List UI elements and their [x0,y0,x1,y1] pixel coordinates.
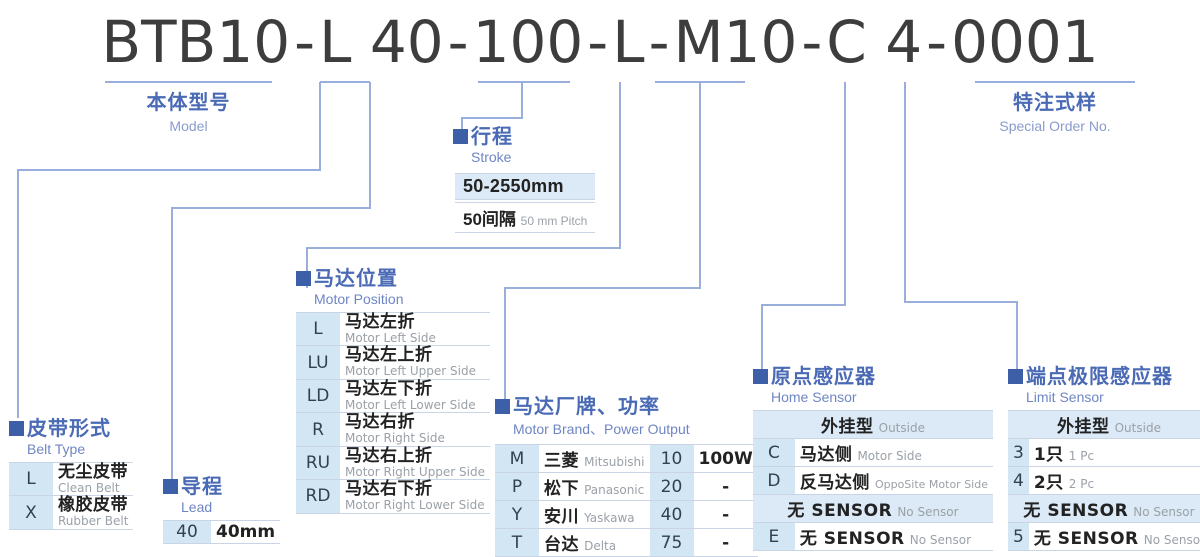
motor-position-cn: 马达右下折 [345,481,485,499]
callout-limit-sensor: 端点极限感应器 Limit Sensor 外挂型 Outside 3 1只 1 … [1008,366,1200,551]
callout-home-sensor-cn: 原点感应器 [771,366,876,386]
table-row: L 马达左折 Motor Left Side [296,313,490,346]
motor-brand-table: M 三菱 Mitsubishi 10 100W P 松下 Panasonic 2… [495,444,758,557]
motor-brand-en: Yaskawa [584,511,635,525]
callout-stroke-cn: 行程 [471,126,513,146]
limit-sensor-group-cn: 无 SENSOR [1023,501,1128,521]
limit-sensor-desc: 1只 1 Pc [1029,439,1200,467]
callout-stroke: 行程 Stroke 50-2550mm 50间隔 50 mm Pitch [453,126,597,235]
home-sensor-group-en: Outside [879,421,925,435]
model-part-12: 4 [885,8,922,76]
table-row: 5 无 SENSOR No Sensor [1008,523,1200,551]
limit-sensor-desc: 无 SENSOR No Sensor [1029,523,1200,551]
callout-home-sensor-title: 原点感应器 [753,366,993,386]
home-sensor-cn: 马达侧 [800,445,853,465]
motor-position-en: Motor Left Lower Side [345,399,485,412]
lead-code: 40 [163,521,211,544]
motor-brand-code: M [495,445,539,473]
motor-brand-cn: 三菱 [544,451,579,471]
table-row-header: 无 SENSOR No Sensor [753,495,993,523]
table-row: 50-2550mm [455,173,595,200]
motor-power-code: 75 [650,529,694,557]
motor-power-code: 10 [650,445,694,473]
callout-lead-title: 导程 [163,476,280,496]
home-sensor-code: C [753,439,795,467]
motor-position-cn: 马达右上折 [345,448,485,466]
motor-position-code: LU [296,346,340,379]
model-part-11: C [826,8,867,76]
motor-position-cn: 马达左下折 [345,381,485,399]
callout-motor-position-title: 马达位置 [296,268,490,288]
motor-position-code: LD [296,379,340,412]
limit-sensor-group-en: Outside [1115,421,1161,435]
diagram-canvas: BTB10-L 40-100-L-M10-C 4-0001 本体型号 Model… [0,0,1200,551]
table-row: RU 马达右上折 Motor Right Upper Side [296,446,490,479]
limit-sensor-code: 4 [1008,467,1029,495]
limit-sensor-en: 2 Pc [1069,477,1094,491]
motor-position-code: L [296,313,340,346]
callout-motor-brand-title: 马达厂牌、功率 [495,396,758,416]
table-row: M 三菱 Mitsubishi 10 100W [495,445,758,473]
callout-lead: 导程 Lead 40 40mm [163,476,280,544]
callout-special-order-en: Special Order No. [975,118,1135,134]
stroke-pitch-cell: 50间隔 50 mm Pitch [455,202,595,233]
motor-brand-name: 台达 Delta [539,529,650,557]
home-sensor-desc: 无 SENSOR No Sensor [795,523,993,551]
motor-position-code: RD [296,480,340,513]
stroke-range-value: 50-2550mm [463,176,564,196]
table-row: 3 1只 1 Pc [1008,439,1200,467]
motor-brand-code: P [495,473,539,501]
callout-model-cn: 本体型号 [105,86,272,115]
home-sensor-group-cn: 外挂型 [821,417,874,437]
motor-position-table: L 马达左折 Motor Left Side LU 马达左上折 Motor Le… [296,312,490,514]
callout-lead-en: Lead [181,499,280,515]
stroke-range-cell: 50-2550mm [455,173,595,200]
table-row: X 橡胶皮带 Rubber Belt [9,496,133,529]
model-part-3: 40 [370,8,444,76]
callout-motor-position-en: Motor Position [314,291,490,307]
belt-type-code: L [9,463,53,496]
model-part-9: M10 [674,8,798,76]
belt-type-cn: 橡胶皮带 [58,497,128,515]
model-part-8: - [645,8,674,76]
motor-brand-cn: 安川 [544,507,579,527]
motor-position-desc: 马达左上折 Motor Left Upper Side [340,346,490,379]
motor-position-en: Motor Right Lower Side [345,499,485,512]
table-row: 40 40mm [163,521,280,544]
model-part-4: - [444,8,473,76]
callout-stroke-title: 行程 [453,126,597,146]
table-row: R 马达右折 Motor Right Side [296,413,490,446]
motor-brand-name: 松下 Panasonic [539,473,650,501]
model-part-13: - [922,8,951,76]
limit-sensor-desc: 2只 2 Pc [1029,467,1200,495]
table-row: LD 马达左下折 Motor Left Lower Side [296,379,490,412]
limit-sensor-cn: 无 SENSOR [1034,529,1139,549]
motor-brand-en: Panasonic [584,483,644,497]
model-part-6: - [583,8,612,76]
motor-brand-cn: 松下 [544,479,579,499]
bullet-square-icon [163,479,178,494]
table-row: C 马达侧 Motor Side [753,439,993,467]
stroke-pitch-en: 50 mm Pitch [521,214,588,228]
callout-belt-type-cn: 皮带形式 [27,418,111,438]
table-row: P 松下 Panasonic 20 - [495,473,758,501]
limit-sensor-cn: 2只 [1034,473,1064,493]
motor-brand-name: 三菱 Mitsubishi [539,445,650,473]
model-part-10: - [797,8,826,76]
model-part-1: - [290,8,319,76]
home-sensor-group-cn: 无 SENSOR [787,501,892,521]
motor-brand-code: Y [495,501,539,529]
motor-position-code: R [296,413,340,446]
motor-power-code: 40 [650,501,694,529]
model-part-0: BTB10 [101,8,290,76]
table-row: RD 马达右下折 Motor Right Lower Side [296,480,490,513]
motor-position-en: Motor Left Upper Side [345,365,485,378]
home-sensor-group-header: 外挂型 Outside [753,411,993,439]
limit-sensor-code: 5 [1008,523,1029,551]
callout-lead-cn: 导程 [181,476,223,496]
callout-motor-brand-en: Motor Brand、Power Output [513,419,758,439]
belt-type-desc: 橡胶皮带 Rubber Belt [53,496,133,529]
bullet-square-icon [296,271,311,286]
motor-position-cn: 马达右折 [345,414,485,432]
table-row: Y 安川 Yaskawa 40 - [495,501,758,529]
limit-sensor-en: 1 Pc [1069,449,1094,463]
motor-brand-en: Mitsubishi [584,455,644,469]
motor-brand-cn: 台达 [544,535,579,555]
motor-brand-code: T [495,529,539,557]
table-row: E 无 SENSOR No Sensor [753,523,993,551]
model-part-7: L [612,8,644,76]
home-sensor-group-header: 无 SENSOR No Sensor [753,495,993,523]
belt-type-en: Clean Belt [58,482,128,495]
table-row-header: 外挂型 Outside [753,411,993,439]
table-row: LU 马达左上折 Motor Left Upper Side [296,346,490,379]
motor-power-value: - [694,501,758,529]
limit-sensor-table: 外挂型 Outside 3 1只 1 Pc 4 2只 2 Pc [1008,410,1200,551]
callout-special-order-cn: 特注式样 [975,86,1135,115]
stroke-table: 50-2550mm 50间隔 50 mm Pitch [453,171,597,235]
motor-power-value: - [694,529,758,557]
home-sensor-cn: 反马达侧 [800,473,870,493]
callout-belt-type-en: Belt Type [27,441,133,457]
home-sensor-table: 外挂型 Outside C 马达侧 Motor Side D 反马达侧 Oppo… [753,410,993,551]
model-part-5: 100 [473,8,584,76]
model-number-string: BTB10-L 40-100-L-M10-C 4-0001 [0,8,1200,76]
table-row-header: 无 SENSOR No Sensor [1008,495,1200,523]
bullet-square-icon [453,129,468,144]
limit-sensor-code: 3 [1008,439,1029,467]
home-sensor-en: No Sensor [910,533,971,547]
belt-type-en: Rubber Belt [58,515,128,528]
belt-type-cn: 无尘皮带 [58,464,128,482]
table-row: L 无尘皮带 Clean Belt [9,463,133,496]
table-row: 4 2只 2 Pc [1008,467,1200,495]
home-sensor-en: OppoSite Motor Side [875,478,988,491]
callout-home-sensor: 原点感应器 Home Sensor 外挂型 Outside C 马达侧 Moto… [753,366,993,551]
motor-power-value: 100W [694,445,758,473]
home-sensor-desc: 反马达侧 OppoSite Motor Side [795,467,993,495]
home-sensor-cn: 无 SENSOR [800,529,905,549]
limit-sensor-group-en: No Sensor [1133,505,1194,519]
limit-sensor-group-header: 外挂型 Outside [1008,411,1200,439]
motor-position-desc: 马达左下折 Motor Left Lower Side [340,379,490,412]
belt-type-table: L 无尘皮带 Clean Belt X 橡胶皮带 Rubber Belt [9,462,133,530]
table-row-header: 外挂型 Outside [1008,411,1200,439]
callout-model: 本体型号 Model [105,86,272,134]
model-part-2: L [319,8,351,76]
callout-belt-type: 皮带形式 Belt Type L 无尘皮带 Clean Belt X 橡胶皮带 … [9,418,133,530]
home-sensor-code: E [753,523,795,551]
limit-sensor-en: No Sensor [1144,533,1200,547]
motor-brand-name: 安川 Yaskawa [539,501,650,529]
motor-position-desc: 马达左折 Motor Left Side [340,313,490,346]
motor-position-desc: 马达右折 Motor Right Side [340,413,490,446]
table-row: D 反马达侧 OppoSite Motor Side [753,467,993,495]
lead-value: 40mm [211,521,280,544]
callout-motor-brand-cn: 马达厂牌、功率 [513,396,660,416]
bullet-square-icon [9,421,24,436]
home-sensor-code: D [753,467,795,495]
motor-position-code: RU [296,446,340,479]
bullet-square-icon [495,399,510,414]
callout-belt-type-title: 皮带形式 [9,418,133,438]
motor-position-cn: 马达左上折 [345,347,485,365]
callout-model-en: Model [105,118,272,134]
home-sensor-group-en: No Sensor [897,505,958,519]
callout-motor-position-cn: 马达位置 [314,268,398,288]
limit-sensor-group-cn: 外挂型 [1057,417,1110,437]
bullet-square-icon [753,369,768,384]
callout-motor-brand: 马达厂牌、功率 Motor Brand、Power Output M 三菱 Mi… [495,396,758,557]
belt-type-desc: 无尘皮带 Clean Belt [53,463,133,496]
callout-limit-sensor-en: Limit Sensor [1026,389,1200,405]
motor-position-en: Motor Right Side [345,432,485,445]
motor-position-desc: 马达右上折 Motor Right Upper Side [340,446,490,479]
motor-position-en: Motor Left Side [345,332,485,345]
home-sensor-en: Motor Side [857,449,921,463]
home-sensor-desc: 马达侧 Motor Side [795,439,993,467]
callout-stroke-en: Stroke [471,149,597,165]
limit-sensor-group-header: 无 SENSOR No Sensor [1008,495,1200,523]
motor-power-value: - [694,473,758,501]
motor-position-cn: 马达左折 [345,314,485,332]
belt-type-code: X [9,496,53,529]
table-row: T 台达 Delta 75 - [495,529,758,557]
model-part-14: 0001 [951,8,1099,76]
table-row: 50间隔 50 mm Pitch [455,202,595,233]
callout-motor-position: 马达位置 Motor Position L 马达左折 Motor Left Si… [296,268,490,514]
lead-table: 40 40mm [163,520,280,544]
motor-position-en: Motor Right Upper Side [345,466,485,479]
motor-position-desc: 马达右下折 Motor Right Lower Side [340,480,490,513]
callout-limit-sensor-cn: 端点极限感应器 [1026,366,1173,386]
motor-power-code: 20 [650,473,694,501]
bullet-square-icon [1008,369,1023,384]
callout-limit-sensor-title: 端点极限感应器 [1008,366,1200,386]
callout-home-sensor-en: Home Sensor [771,389,993,405]
stroke-pitch-cn: 50间隔 [463,210,516,229]
callout-special-order: 特注式样 Special Order No. [975,86,1135,134]
limit-sensor-cn: 1只 [1034,445,1064,465]
